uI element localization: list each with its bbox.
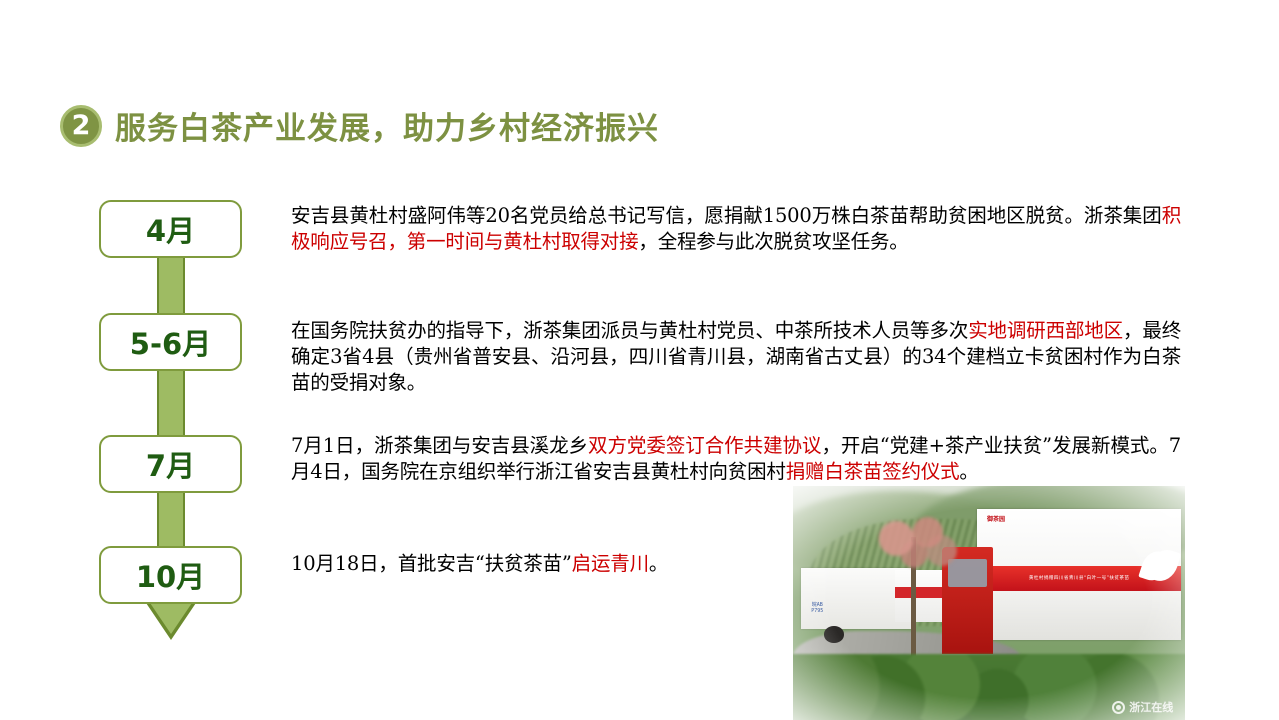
timeline: 4月 5-6月 7月 10月: [99, 196, 244, 656]
truck-photo: 皖AB P795 御茶园 黄杜村捐赠四川省青川县“白叶一号”扶贫茶苗 浙江在线: [793, 486, 1185, 720]
body-text: 在国务院扶贫办的指导下，浙茶集团派员与黄杜村党员、中茶所技术人员等多次: [291, 319, 968, 342]
truck-brand-logo: 御茶园: [987, 516, 1005, 523]
body-text: 7月1日，浙茶集团与安吉县溪龙乡: [291, 434, 588, 457]
paragraph-april: 安吉县黄杜村盛阿伟等20名党员给总书记写信，愿捐献1500万株白茶苗帮助贫困地区…: [291, 203, 1181, 255]
truck-license-plate: 皖AB P795: [805, 601, 829, 614]
page-title: 服务白茶产业发展，助力乡村经济振兴: [115, 103, 659, 148]
body-text: ，全程参与此次脱贫攻坚任务。: [638, 230, 908, 253]
body-text: 10月18日，首批安吉“扶贫茶苗”: [291, 552, 572, 575]
highlighted-text: 实地调研西部地区: [968, 319, 1123, 342]
timeline-item-july[interactable]: 7月: [99, 435, 242, 493]
section-number-badge: 2: [60, 105, 102, 147]
section-header: 2 服务白茶产业发展，助力乡村经济振兴: [60, 103, 659, 148]
watermark-logo-icon: [1112, 701, 1125, 714]
roadside-tree-canopy: [867, 514, 965, 575]
highlighted-text: 双方党委签订合作共建协议: [588, 434, 821, 457]
watermark-text: 浙江在线: [1129, 699, 1173, 715]
highlighted-text: 启运青川: [572, 552, 649, 575]
body-text: 。: [959, 460, 978, 483]
body-text: 。: [649, 552, 668, 575]
paragraph-july: 7月1日，浙茶集团与安吉县溪龙乡双方党委签订合作共建协议，开启“党建+茶产业扶贫…: [291, 433, 1181, 485]
timeline-item-october[interactable]: 10月: [99, 546, 242, 604]
paragraph-may-june: 在国务院扶贫办的指导下，浙茶集团派员与黄杜村党员、中茶所技术人员等多次实地调研西…: [291, 318, 1181, 396]
timeline-item-may-june[interactable]: 5-6月: [99, 313, 242, 371]
background-truck-wheel: [824, 626, 844, 642]
timeline-item-april[interactable]: 4月: [99, 200, 242, 258]
photo-watermark: 浙江在线: [1112, 699, 1173, 715]
highlighted-text: 捐赠白茶苗签约仪式: [786, 460, 960, 483]
body-text: 安吉县黄杜村盛阿伟等20名党员给总书记写信，愿捐献1500万株白茶苗帮助贫困地区…: [291, 204, 1162, 227]
truck-photo-image: 皖AB P795 御茶园 黄杜村捐赠四川省青川县“白叶一号”扶贫茶苗 浙江在线: [793, 486, 1185, 720]
